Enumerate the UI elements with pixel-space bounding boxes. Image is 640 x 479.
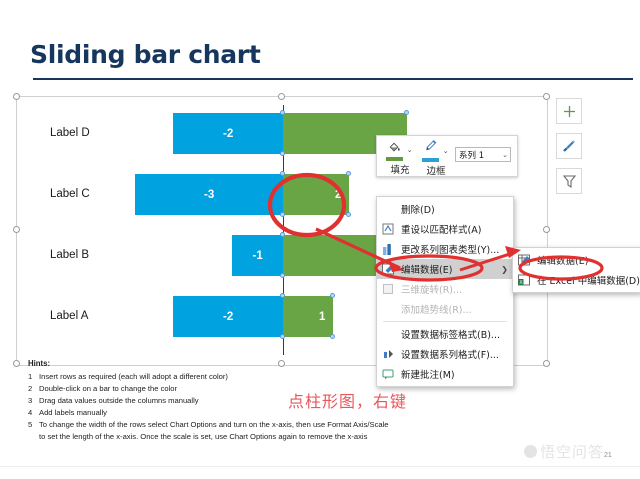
border-color-swatch[interactable] xyxy=(422,158,439,162)
border-label: 边框 xyxy=(419,163,453,177)
hint-text: To change the width of the rows select C… xyxy=(39,419,458,431)
floating-mini-toolbar[interactable]: ⌄ 填充 ⌄ 边框 系列 1 ⌄ xyxy=(376,135,518,177)
edit-data-grid-icon xyxy=(517,253,531,267)
bar-positive-value: 1 xyxy=(319,311,325,323)
context-menu-item-label: 编辑数据(E) xyxy=(401,262,452,276)
resize-handle-top-center[interactable] xyxy=(278,93,285,100)
resize-handle-top-right[interactable] xyxy=(543,93,550,100)
submenu-item[interactable]: X在 Excel 中编辑数据(D) xyxy=(513,270,640,290)
series-point-handle[interactable] xyxy=(280,334,285,339)
series-point-handle[interactable] xyxy=(280,151,285,156)
series-point-handle[interactable] xyxy=(346,212,351,217)
series-point-handle[interactable] xyxy=(280,293,285,298)
context-menu-item-label: 新建批注(M) xyxy=(401,367,455,381)
submenu-arrow-icon: ❯ xyxy=(501,265,508,274)
context-menu-item: 三维旋转(R)... xyxy=(377,279,513,299)
page-number: 21 xyxy=(604,452,612,459)
bar-negative-value: -3 xyxy=(204,189,214,201)
context-menu-item[interactable]: 编辑数据(E)❯ xyxy=(377,259,513,279)
border-tool[interactable]: ⌄ 边框 xyxy=(419,139,453,177)
hint-text-continued: to set the length of the x-axis. Once th… xyxy=(28,431,458,443)
context-menu[interactable]: 删除(D)重设以匹配样式(A)更改系列图表类型(Y)...编辑数据(E)❯三维旋… xyxy=(376,196,514,387)
series-point-handle[interactable] xyxy=(404,110,409,115)
context-menu-item-label: 设置数据系列格式(F)... xyxy=(401,347,499,361)
fill-color-swatch[interactable] xyxy=(386,157,403,161)
context-menu-item-label: 更改系列图表类型(Y)... xyxy=(401,242,499,256)
context-menu-item[interactable]: 设置数据系列格式(F)... xyxy=(377,344,513,364)
category-label: Label A xyxy=(50,310,88,322)
context-menu-item-label: 重设以匹配样式(A) xyxy=(401,222,481,236)
bar-negative-value: -2 xyxy=(223,311,233,323)
resize-handle-mid-left[interactable] xyxy=(13,226,20,233)
resize-handle-mid-right[interactable] xyxy=(543,226,550,233)
context-menu-item[interactable]: 重设以匹配样式(A) xyxy=(377,219,513,239)
context-menu-item-label: 设置数据标签格式(B)... xyxy=(401,327,500,341)
chart-styles-button[interactable] xyxy=(556,133,582,159)
slide-canvas: Sliding bar chart Label D-2Label C-32Lab… xyxy=(0,0,640,479)
format-series-icon xyxy=(381,347,395,361)
chart-filters-button[interactable] xyxy=(556,168,582,194)
resize-handle-top-left[interactable] xyxy=(13,93,20,100)
reset-style-icon xyxy=(381,222,395,236)
bar-positive-value: 2 xyxy=(335,189,341,201)
comment-icon xyxy=(381,367,395,381)
series-point-handle[interactable] xyxy=(280,212,285,217)
series-point-handle[interactable] xyxy=(330,293,335,298)
context-submenu[interactable]: 编辑数据(E)X在 Excel 中编辑数据(D) xyxy=(512,247,640,293)
bar-negative-value: -2 xyxy=(223,128,233,140)
chart-side-buttons xyxy=(556,98,582,203)
menu-separator xyxy=(383,321,507,322)
bar-positive[interactable] xyxy=(283,296,333,337)
chart-elements-button[interactable] xyxy=(556,98,582,124)
context-menu-item[interactable]: 新建批注(M) xyxy=(377,364,513,384)
resize-handle-bottom-center[interactable] xyxy=(278,360,285,367)
fill-bucket-icon xyxy=(387,141,402,155)
footer-divider xyxy=(0,466,640,467)
hint-number: 2 xyxy=(28,383,39,395)
pencil-border-icon xyxy=(423,139,438,153)
series-point-handle[interactable] xyxy=(280,273,285,278)
context-menu-item: 添加趋势线(R)... xyxy=(377,299,513,319)
context-menu-item[interactable]: 更改系列图表类型(Y)... xyxy=(377,239,513,259)
title-divider xyxy=(33,78,633,80)
bar-negative-value: -1 xyxy=(253,250,263,262)
border-chevron-icon[interactable]: ⌄ xyxy=(443,148,449,155)
plus-icon xyxy=(562,104,577,119)
hint-number: 3 xyxy=(28,395,39,407)
context-menu-item[interactable]: 删除(D) xyxy=(377,199,513,219)
rotate-3d-icon xyxy=(381,282,395,296)
hint-number: 1 xyxy=(28,371,39,383)
fill-label: 填充 xyxy=(383,162,417,176)
funnel-icon xyxy=(562,174,577,189)
category-label: Label D xyxy=(50,127,90,139)
series-point-handle[interactable] xyxy=(280,232,285,237)
edit-data-icon xyxy=(381,262,395,276)
fill-tool[interactable]: ⌄ 填充 xyxy=(383,139,417,176)
context-menu-item-label: 添加趋势线(R)... xyxy=(401,302,472,316)
context-menu-item-label: 三维旋转(R)... xyxy=(401,282,462,296)
category-label: Label C xyxy=(50,188,90,200)
fill-chevron-icon[interactable]: ⌄ xyxy=(407,147,413,154)
series-point-handle[interactable] xyxy=(280,171,285,176)
context-menu-item[interactable]: 设置数据标签格式(B)... xyxy=(377,324,513,344)
page-title: Sliding bar chart xyxy=(30,40,260,69)
watermark-text: 悟空问答 xyxy=(540,441,604,462)
hint-number: 5 xyxy=(28,419,39,431)
chevron-down-icon[interactable]: ⌄ xyxy=(502,151,510,159)
hint-item: 5To change the width of the rows select … xyxy=(28,419,458,431)
resize-handle-bottom-left[interactable] xyxy=(13,360,20,367)
excel-icon: X xyxy=(517,273,531,287)
submenu-item-label: 编辑数据(E) xyxy=(537,253,588,267)
hint-number: 4 xyxy=(28,407,39,419)
series-selector-value: 系列 1 xyxy=(459,149,502,161)
resize-handle-bottom-right[interactable] xyxy=(543,360,550,367)
submenu-item[interactable]: 编辑数据(E) xyxy=(513,250,640,270)
series-point-handle[interactable] xyxy=(330,334,335,339)
context-menu-item-label: 删除(D) xyxy=(401,202,435,216)
series-point-handle[interactable] xyxy=(346,171,351,176)
brush-icon xyxy=(561,138,577,154)
chart-type-icon xyxy=(381,242,395,256)
category-label: Label B xyxy=(50,249,89,261)
submenu-item-label: 在 Excel 中编辑数据(D) xyxy=(537,273,640,287)
series-selector[interactable]: 系列 1 ⌄ xyxy=(455,147,511,162)
red-annotation-text: 点柱形图，右键 xyxy=(288,388,407,412)
series-point-handle[interactable] xyxy=(280,110,285,115)
watermark-logo xyxy=(524,445,537,458)
